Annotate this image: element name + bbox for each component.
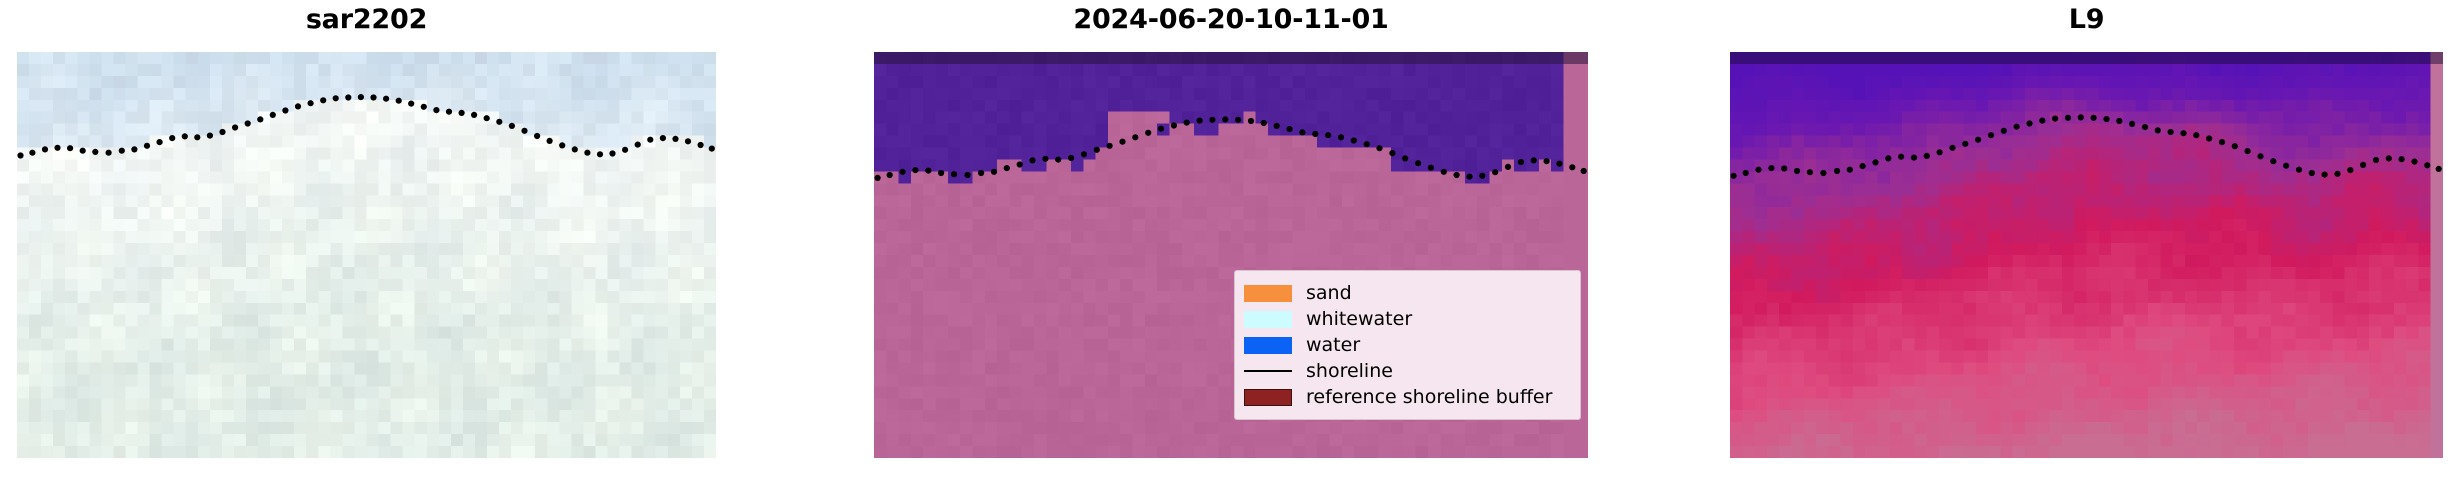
panel-title-l9: L9: [1730, 4, 2443, 35]
legend-label-whitewater: whitewater: [1306, 310, 1412, 329]
legend-swatch-whitewater: [1244, 311, 1292, 328]
panel-l9: L9: [1730, 0, 2443, 486]
legend-swatch-shoreline-line: [1244, 363, 1292, 380]
legend-swatch-reference-buffer: [1244, 389, 1292, 406]
panel-title-sar2202: sar2202: [17, 4, 716, 35]
legend-label-water: water: [1306, 336, 1360, 355]
legend-swatch-sand: [1244, 285, 1292, 302]
legend-item-sand[interactable]: sand: [1244, 280, 1569, 306]
panel-title-datetime: 2024-06-20-10-11-01: [874, 4, 1588, 35]
panel-sar2202: sar2202: [17, 0, 716, 486]
legend-item-reference-buffer[interactable]: reference shoreline buffer: [1244, 384, 1569, 410]
legend-label-shoreline: shoreline: [1306, 362, 1393, 381]
legend-item-water[interactable]: water: [1244, 332, 1569, 358]
axes-sar2202: [17, 52, 716, 458]
raster-l9-image: [1730, 52, 2443, 458]
axes-classified: sand whitewater water shoreline referenc…: [874, 52, 1588, 458]
legend-swatch-water: [1244, 337, 1292, 354]
legend-label-reference-buffer: reference shoreline buffer: [1306, 388, 1552, 407]
panel-classified: 2024-06-20-10-11-01 sand whitewater: [874, 0, 1588, 486]
legend-item-shoreline[interactable]: shoreline: [1244, 358, 1569, 384]
legend-label-sand: sand: [1306, 284, 1352, 303]
raster-rgb-image: [17, 52, 716, 458]
figure-canvas: sar2202 2024-06-20-10-11-01 sand: [0, 0, 2460, 486]
legend-item-whitewater[interactable]: whitewater: [1244, 306, 1569, 332]
axes-l9: [1730, 52, 2443, 458]
legend-box: sand whitewater water shoreline referenc…: [1234, 270, 1581, 420]
